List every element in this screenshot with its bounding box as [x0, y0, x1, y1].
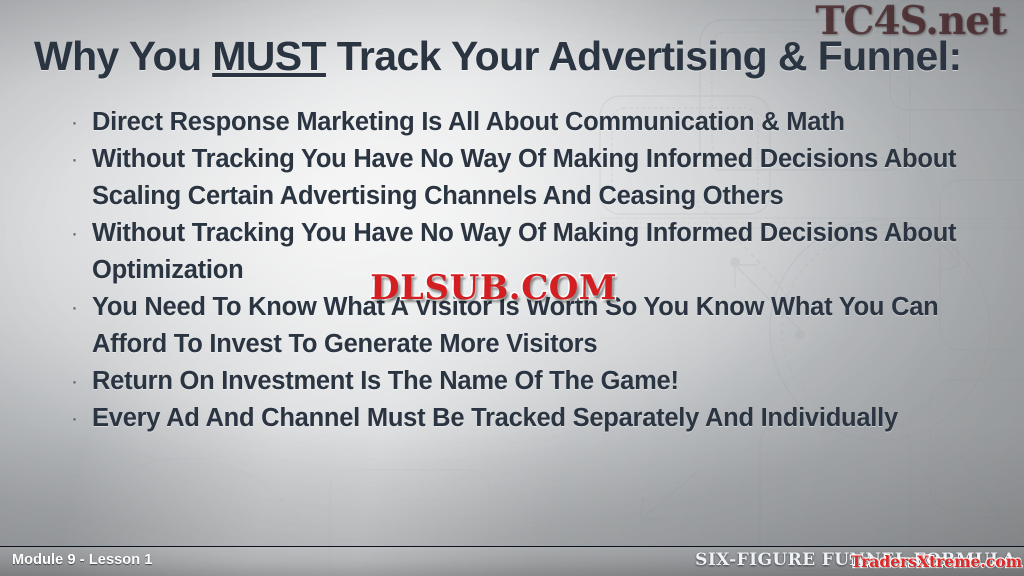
list-item: · Direct Response Marketing Is All About…	[62, 104, 992, 141]
lesson-label: Module 9 - Lesson 1	[12, 552, 152, 568]
tradersxtreme-watermark: TradersXtreme.com	[851, 552, 1022, 571]
slide-canvas: TC4S.net Why You MUST Track Your Adverti…	[0, 0, 1024, 576]
list-item: · Return On Investment Is The Name Of Th…	[62, 363, 992, 400]
bullet-dot-icon: ·	[62, 215, 92, 252]
bullet-dot-icon: ·	[62, 363, 92, 400]
list-item: · Without Tracking You Have No Way Of Ma…	[62, 141, 992, 215]
bullet-dot-icon: ·	[62, 141, 92, 178]
list-item-text: Without Tracking You Have No Way Of Maki…	[92, 141, 972, 215]
list-item: · Every Ad And Channel Must Be Tracked S…	[62, 400, 992, 437]
list-item-text: Every Ad And Channel Must Be Tracked Sep…	[92, 400, 898, 437]
bullet-dot-icon: ·	[62, 289, 92, 326]
dlsub-watermark: DLSUB.COM	[370, 268, 618, 308]
title-emphasis: MUST	[212, 33, 326, 79]
title-prefix: Why You	[34, 33, 212, 79]
list-item-text: Direct Response Marketing Is All About C…	[92, 104, 845, 141]
bullet-dot-icon: ·	[62, 400, 92, 437]
title-suffix: Track Your Advertising & Funnel:	[326, 33, 962, 79]
page-title: Why You MUST Track Your Advertising & Fu…	[34, 33, 962, 80]
bullet-dot-icon: ·	[62, 104, 92, 141]
list-item-text: Return On Investment Is The Name Of The …	[92, 363, 679, 400]
